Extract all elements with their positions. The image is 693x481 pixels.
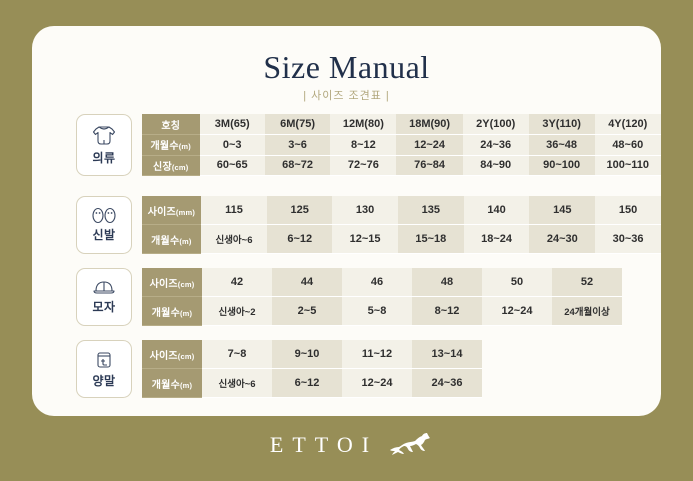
table-row: 신장(cm) 60~65 68~72 72~76 76~84 84~90 90~…: [142, 155, 661, 176]
table-cell: 50: [482, 268, 552, 297]
table-cell: 9~10: [272, 340, 342, 369]
table-cell: 150: [595, 196, 661, 225]
table-cell: 3Y(110): [529, 114, 595, 135]
table-cell: 7~8: [202, 340, 272, 369]
table-hat: 사이즈(cm) 42 44 46 48 50 52 개월수(m) 신생아~2 2…: [142, 268, 622, 326]
table-cell: 84~90: [463, 155, 529, 176]
table-cell: 2~5: [272, 297, 342, 326]
table-cell: 46: [342, 268, 412, 297]
table-cell: 6~12: [272, 369, 342, 398]
table-cell: 115: [201, 196, 267, 225]
table-cell: 145: [529, 196, 595, 225]
table-cell: 76~84: [396, 155, 462, 176]
table-cell: 6~12: [267, 225, 332, 254]
table-cell: 12~15: [332, 225, 398, 254]
table-cell: 8~12: [330, 135, 396, 156]
section-hat: 모자 사이즈(cm) 42 44 46 48 50 52 개월수(m) 신생아~…: [32, 268, 661, 326]
brand-name: ETTOI: [261, 432, 378, 458]
table-row: 사이즈(cm) 42 44 46 48 50 52: [142, 268, 622, 297]
table-cell: 44: [272, 268, 342, 297]
category-badge-shoes: 신발: [76, 196, 132, 254]
table-row: 사이즈(mm) 115 125 130 135 140 145 150: [142, 196, 661, 225]
table-row: 호칭 3M(65) 6M(75) 12M(80) 18M(90) 2Y(100)…: [142, 114, 661, 135]
section-shoes: 신발 사이즈(mm) 115 125 130 135 140 145 150 개…: [32, 196, 661, 254]
table-cell: 135: [398, 196, 464, 225]
table-socks: 사이즈(cm) 7~8 9~10 11~12 13~14 개월수(m) 신생아~…: [142, 340, 482, 398]
table-cell: 18~24: [464, 225, 530, 254]
table-cell: 30~36: [595, 225, 661, 254]
table-cell: 12~24: [342, 369, 412, 398]
table-cell: 3M(65): [200, 114, 265, 135]
row-header: 사이즈(cm): [142, 340, 202, 369]
table-row: 개월수(m) 신생아~6 6~12 12~24 24~36: [142, 369, 482, 398]
table-cell: 48: [412, 268, 482, 297]
category-badge-hat: 모자: [76, 268, 132, 326]
row-header: 신장(cm): [142, 155, 200, 176]
table-row: 개월수(m) 신생아~2 2~5 5~8 8~12 12~24 24개월이상: [142, 297, 622, 326]
table-cell: 8~12: [412, 297, 482, 326]
page-title: Size Manual: [32, 49, 661, 86]
section-clothing: 의류 호칭 3M(65) 6M(75) 12M(80) 18M(90) 2Y(1…: [32, 114, 661, 176]
table-row: 개월수(m) 0~3 3~6 8~12 12~24 24~36 36~48 48…: [142, 135, 661, 156]
table-cell: 36~48: [529, 135, 595, 156]
row-header: 개월수(m): [142, 225, 201, 254]
table-cell: 신생아~6: [202, 369, 272, 398]
size-manual-page: Size Manual | 사이즈 조견표 | 의류 호칭: [0, 0, 693, 481]
row-header: 호칭: [142, 114, 200, 135]
table-cell: 15~18: [398, 225, 464, 254]
running-horse-icon: [388, 432, 432, 458]
category-badge-clothing: 의류: [76, 114, 132, 176]
table-row: 개월수(m) 신생아~6 6~12 12~15 15~18 18~24 24~3…: [142, 225, 661, 254]
table-cell: 0~3: [200, 135, 265, 156]
section-socks: 양말 사이즈(cm) 7~8 9~10 11~12 13~14 개월수(m) 신…: [32, 340, 661, 398]
row-header: 사이즈(mm): [142, 196, 201, 225]
footer-logo: ETTOI: [0, 432, 693, 458]
table-cell: 48~60: [595, 135, 661, 156]
table-cell: 6M(75): [265, 114, 330, 135]
category-label-clothing: 의류: [92, 149, 115, 166]
table-cell: 130: [332, 196, 398, 225]
table-row: 사이즈(cm) 7~8 9~10 11~12 13~14: [142, 340, 482, 369]
row-header: 사이즈(cm): [142, 268, 202, 297]
table-cell: 5~8: [342, 297, 412, 326]
content-card: Size Manual | 사이즈 조견표 | 의류 호칭: [32, 26, 661, 416]
table-cell: 125: [267, 196, 332, 225]
table-cell: 신생아~6: [201, 225, 267, 254]
page-subtitle: | 사이즈 조견표 |: [32, 87, 661, 103]
table-cell: 52: [552, 268, 622, 297]
table-cell: 13~14: [412, 340, 482, 369]
table-cell: 4Y(120): [595, 114, 661, 135]
table-cell: 3~6: [265, 135, 330, 156]
category-label-hat: 모자: [92, 298, 115, 315]
table-shoes: 사이즈(mm) 115 125 130 135 140 145 150 개월수(…: [142, 196, 661, 254]
table-clothing: 호칭 3M(65) 6M(75) 12M(80) 18M(90) 2Y(100)…: [142, 114, 661, 176]
cap-icon: [91, 279, 117, 296]
table-cell: 140: [464, 196, 530, 225]
baby-romper-icon: [91, 125, 117, 147]
table-cell: 12~24: [396, 135, 462, 156]
baby-shoes-icon: [90, 207, 118, 224]
table-cell: 24~36: [463, 135, 529, 156]
table-cell: 24개월이상: [552, 297, 622, 326]
table-cell: 11~12: [342, 340, 412, 369]
row-header: 개월수(m): [142, 297, 202, 326]
table-cell: 24~36: [412, 369, 482, 398]
table-cell: 신생아~2: [202, 297, 272, 326]
table-cell: 100~110: [595, 155, 661, 176]
row-header: 개월수(m): [142, 135, 200, 156]
table-cell: 18M(90): [396, 114, 462, 135]
category-label-socks: 양말: [92, 372, 115, 389]
category-badge-socks: 양말: [76, 340, 132, 398]
table-cell: 42: [202, 268, 272, 297]
table-cell: 90~100: [529, 155, 595, 176]
socks-icon: [94, 350, 114, 370]
table-cell: 12~24: [482, 297, 552, 326]
table-cell: 12M(80): [330, 114, 396, 135]
table-cell: 2Y(100): [463, 114, 529, 135]
table-cell: 72~76: [330, 155, 396, 176]
table-cell: 24~30: [529, 225, 595, 254]
row-header: 개월수(m): [142, 369, 202, 398]
table-cell: 68~72: [265, 155, 330, 176]
category-label-shoes: 신발: [92, 226, 115, 243]
table-cell: 60~65: [200, 155, 265, 176]
